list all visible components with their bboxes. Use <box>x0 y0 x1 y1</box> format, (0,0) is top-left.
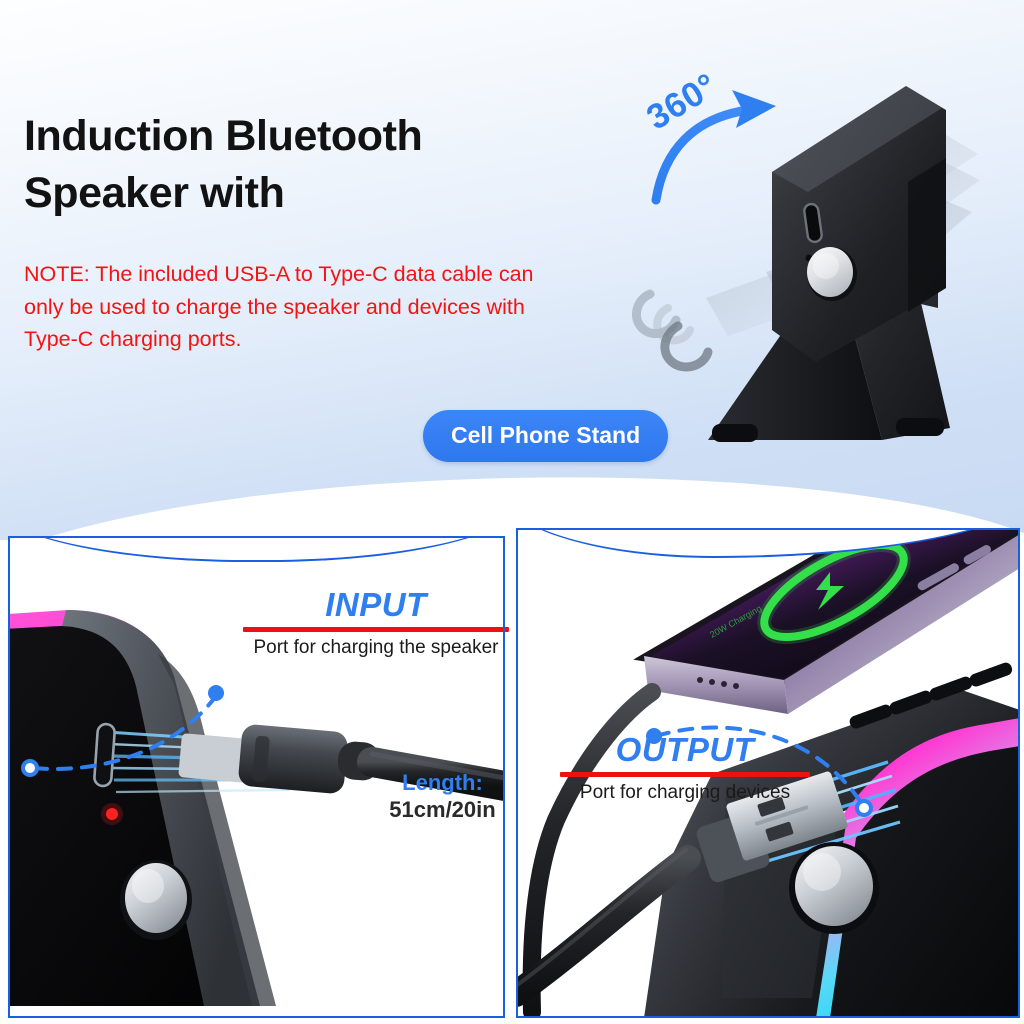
type-c-port-icon <box>94 724 115 787</box>
product-image-stand <box>620 62 1024 444</box>
callout-input-rule <box>243 627 509 632</box>
power-button <box>120 860 192 940</box>
cable-length-callout: Length: 51cm/20in <box>380 770 505 824</box>
callout-output: OUTPUT Port for charging devices <box>560 733 810 804</box>
cable-length-value: 51cm/20in <box>380 797 505 824</box>
callout-input-subtitle: Port for charging the speaker <box>243 637 509 659</box>
product-infographic: Induction Bluetooth Speaker with NOTE: T… <box>0 0 1024 1024</box>
page-title: Induction Bluetooth Speaker with <box>24 108 564 222</box>
callout-output-title: OUTPUT <box>616 733 755 770</box>
cell-phone-stand-badge[interactable]: Cell Phone Stand <box>423 410 668 462</box>
callout-output-subtitle: Port for charging devices <box>560 782 810 804</box>
note-text: NOTE: The included USB-A to Type-C data … <box>24 258 554 356</box>
power-button <box>807 247 857 301</box>
power-button <box>789 842 879 934</box>
callout-input-title: INPUT <box>325 588 427 625</box>
callout-output-rule <box>560 772 810 777</box>
cable-length-label: Length: <box>380 770 505 797</box>
callout-input: INPUT Port for charging the speaker <box>243 588 509 659</box>
